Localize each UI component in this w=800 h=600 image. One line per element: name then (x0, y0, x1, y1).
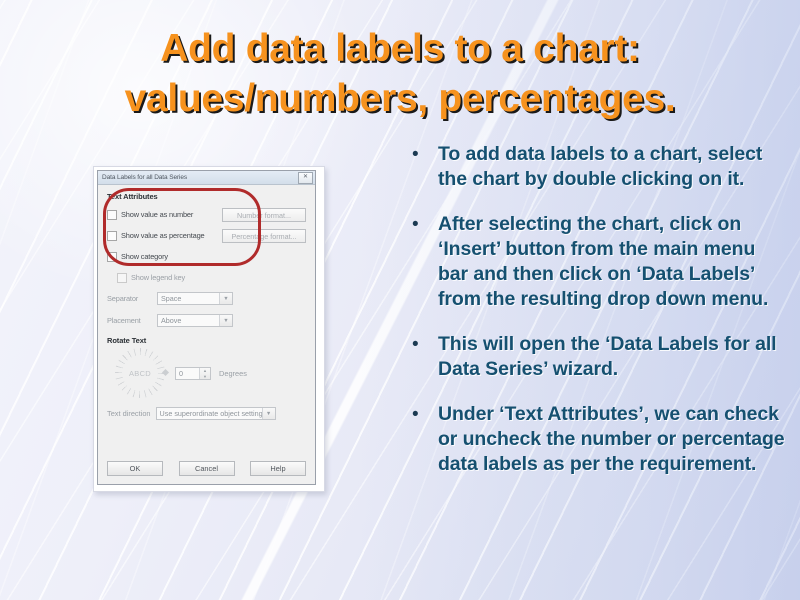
degrees-stepper[interactable]: 0 ▲ ▼ (175, 367, 211, 380)
text-direction-dropdown[interactable]: Use superordinate object settings ▼ (156, 407, 276, 420)
stepper-down-icon[interactable]: ▼ (200, 374, 210, 380)
dialog-screenshot-image: Data Labels for all Data Series ✕ Text A… (93, 166, 325, 492)
degrees-value: 0 (176, 369, 199, 378)
bullet-icon: • (404, 402, 438, 427)
data-labels-dialog: Data Labels for all Data Series ✕ Text A… (97, 170, 316, 485)
row-show-value-as-number: Show value as number Number format... (107, 208, 306, 221)
bullet-text: Under ‘Text Attributes’, we can check or… (438, 402, 788, 477)
bullet-text: To add data labels to a chart, select th… (438, 142, 788, 192)
checkbox-show-value-as-number[interactable] (107, 210, 117, 220)
checkbox-show-category[interactable] (107, 252, 117, 262)
label-placement: Placement (107, 316, 157, 325)
bullet-text: After selecting the chart, click on ‘Ins… (438, 212, 788, 312)
chevron-down-icon[interactable]: ▼ (219, 293, 232, 304)
section-heading-rotate-text: Rotate Text (107, 336, 306, 345)
section-heading-text-attributes: Text Attributes (107, 192, 306, 201)
label-degrees: Degrees (219, 369, 247, 378)
row-text-direction: Text direction Use superordinate object … (107, 407, 306, 420)
row-show-legend-key: Show legend key (117, 271, 306, 284)
checkbox-show-legend-key[interactable] (117, 273, 127, 283)
separator-dropdown[interactable]: Space ▼ (157, 292, 233, 305)
label-show-category: Show category (121, 252, 168, 261)
help-button[interactable]: Help (250, 461, 306, 476)
row-placement: Placement Above ▼ (107, 314, 306, 327)
row-separator: Separator Space ▼ (107, 292, 306, 305)
placement-value: Above (158, 316, 219, 325)
stepper-buttons[interactable]: ▲ ▼ (199, 368, 210, 379)
row-show-value-as-percentage: Show value as percentage Percentage form… (107, 229, 306, 242)
dialog-body: Text Attributes Show value as number Num… (98, 185, 315, 483)
bullet-icon: • (404, 332, 438, 357)
label-show-value-as-percentage: Show value as percentage (121, 231, 205, 240)
list-item: • To add data labels to a chart, select … (404, 142, 788, 192)
list-item: • After selecting the chart, click on ‘I… (404, 212, 788, 312)
percentage-format-button[interactable]: Percentage format... (222, 229, 306, 243)
cancel-button[interactable]: Cancel (179, 461, 235, 476)
separator-value: Space (158, 294, 219, 303)
rotation-dial[interactable]: ABCD (115, 348, 165, 398)
label-text-direction: Text direction (107, 409, 151, 418)
list-item: • This will open the ‘Data Labels for al… (404, 332, 788, 382)
rotate-text-controls: ABCD 0 ▲ ▼ Degrees (107, 347, 306, 399)
slide-title: Add data labels to a chart: values/numbe… (40, 24, 760, 124)
chevron-down-icon[interactable]: ▼ (219, 315, 232, 326)
dialog-button-bar: OK Cancel Help (107, 461, 306, 476)
ok-button[interactable]: OK (107, 461, 163, 476)
dialog-titlebar: Data Labels for all Data Series ✕ (98, 171, 315, 185)
checkbox-show-value-as-percentage[interactable] (107, 231, 117, 241)
row-show-category: Show category (107, 250, 306, 263)
bullet-icon: • (404, 142, 438, 167)
presentation-slide: Add data labels to a chart: values/numbe… (0, 0, 800, 600)
label-show-value-as-number: Show value as number (121, 210, 193, 219)
bullet-list: • To add data labels to a chart, select … (404, 142, 788, 497)
bullet-icon: • (404, 212, 438, 237)
number-format-button[interactable]: Number format... (222, 208, 306, 222)
list-item: • Under ‘Text Attributes’, we can check … (404, 402, 788, 477)
chevron-down-icon[interactable]: ▼ (262, 408, 275, 419)
close-icon[interactable]: ✕ (298, 172, 313, 184)
placement-dropdown[interactable]: Above ▼ (157, 314, 233, 327)
label-show-legend-key: Show legend key (131, 273, 185, 282)
label-separator: Separator (107, 294, 157, 303)
rotation-dial-label: ABCD (115, 348, 165, 398)
text-direction-value: Use superordinate object settings (157, 409, 262, 418)
bullet-text: This will open the ‘Data Labels for all … (438, 332, 788, 382)
dialog-title: Data Labels for all Data Series (102, 174, 187, 181)
